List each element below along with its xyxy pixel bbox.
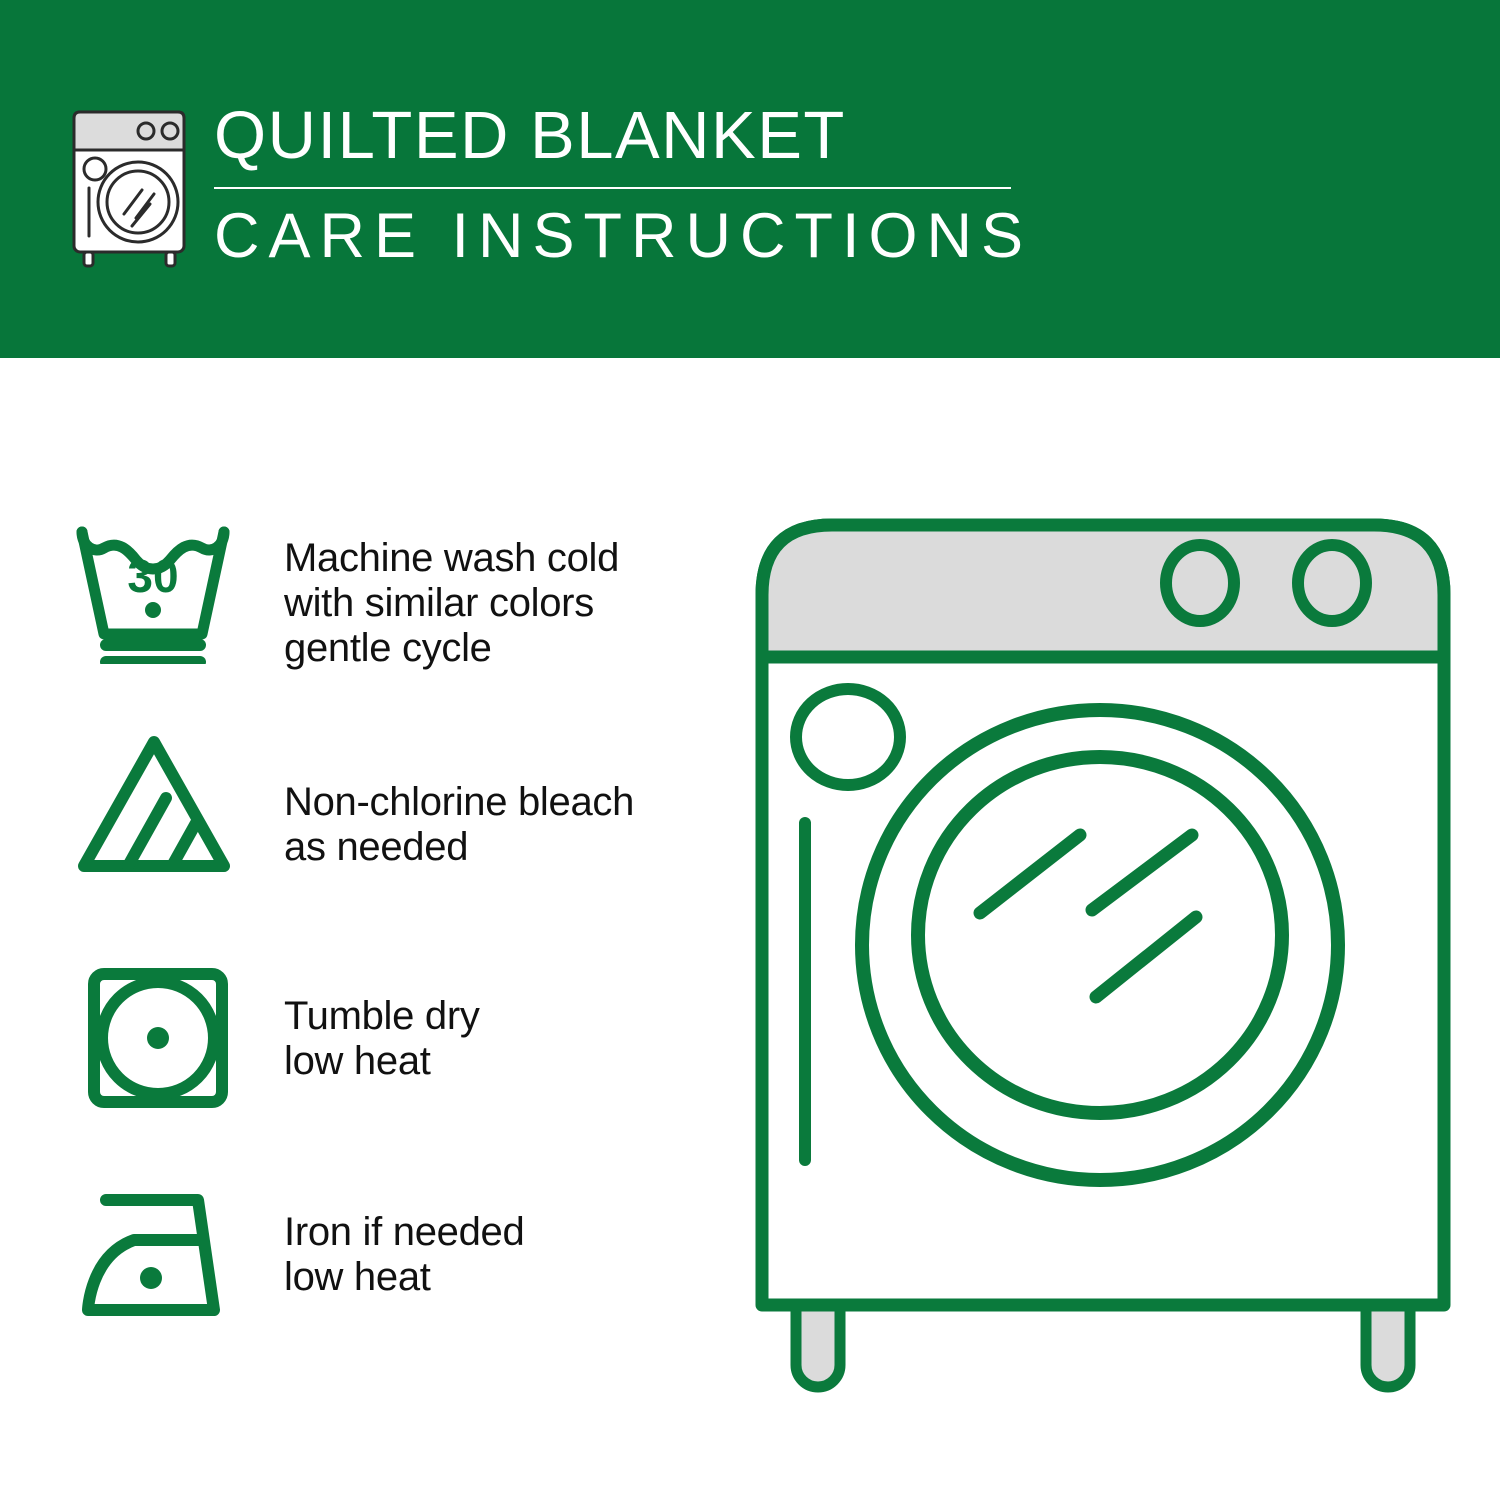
washing-machine-icon xyxy=(62,104,202,269)
care-row-iron: Iron if needed low heat xyxy=(0,1178,740,1388)
care-line: Non-chlorine bleach xyxy=(284,780,740,825)
machine-wash-30-gentle-symbol: 30 xyxy=(68,514,248,664)
care-row-machine-wash: 30 Machine wash cold with similar colors… xyxy=(0,514,740,724)
iron-low-heat-symbol xyxy=(68,1178,248,1328)
tumble-dry-low-symbol xyxy=(68,962,248,1112)
page-title: QUILTED BLANKET xyxy=(214,102,1054,169)
care-instructions-page: QUILTED BLANKET CARE INSTRUCTIONS 30 xyxy=(0,0,1500,1500)
care-line: with similar colors xyxy=(284,581,740,626)
care-text-bleach: Non-chlorine bleach as needed xyxy=(284,728,740,870)
care-text-machine-wash: Machine wash cold with similar colors ge… xyxy=(284,514,740,670)
care-line: low heat xyxy=(284,1039,740,1084)
front-load-washing-machine-illustration xyxy=(748,505,1458,1405)
care-line: Iron if needed xyxy=(284,1210,740,1255)
title-divider xyxy=(214,187,1011,189)
care-line: gentle cycle xyxy=(284,626,740,671)
care-text-iron: Iron if needed low heat xyxy=(284,1178,740,1300)
care-line: Tumble dry xyxy=(284,994,740,1039)
non-chlorine-bleach-symbol xyxy=(68,728,248,878)
care-line: low heat xyxy=(284,1255,740,1300)
care-line: as needed xyxy=(284,825,740,870)
care-row-tumble-dry: Tumble dry low heat xyxy=(0,962,740,1172)
title-block: QUILTED BLANKET CARE INSTRUCTIONS xyxy=(214,102,1054,268)
care-text-tumble-dry: Tumble dry low heat xyxy=(284,962,740,1084)
care-row-bleach: Non-chlorine bleach as needed xyxy=(0,728,740,938)
wash-temperature-label: 30 xyxy=(127,550,178,602)
care-line: Machine wash cold xyxy=(284,536,740,581)
page-subtitle: CARE INSTRUCTIONS xyxy=(214,205,1054,268)
